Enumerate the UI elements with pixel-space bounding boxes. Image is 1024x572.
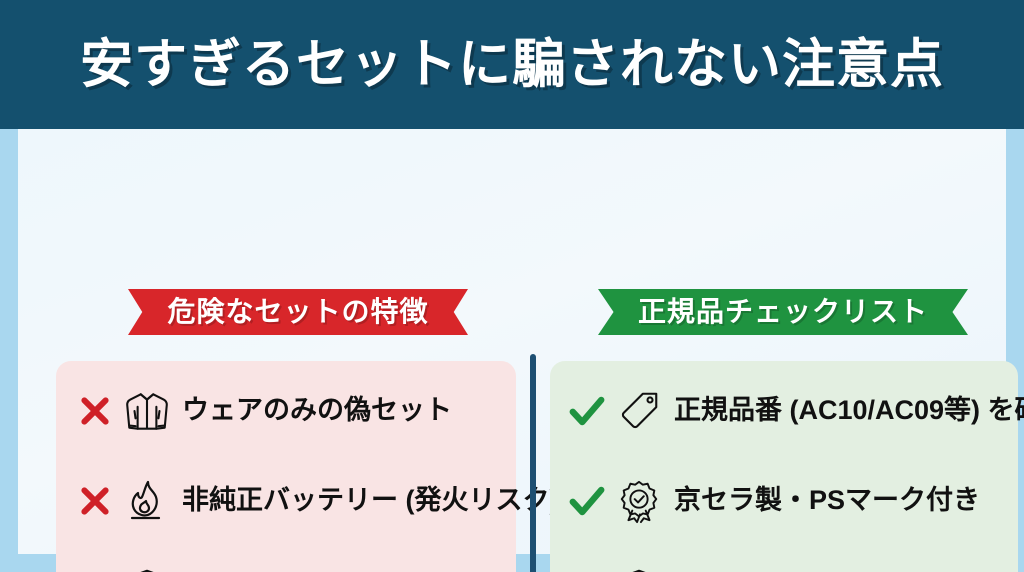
danger-card: ウェアのみの偽セット 非純正バッテリー (発火リスク) xyxy=(56,361,516,572)
safe-banner: 正規品チェックリスト xyxy=(598,289,968,335)
jacket-icon xyxy=(118,386,176,436)
list-item-label: ウェアのみの偽セット xyxy=(182,396,452,426)
danger-banner: 危険なセットの特徴 xyxy=(128,289,468,335)
price-tag-icon xyxy=(610,388,668,434)
list-item-label: 非純正バッテリー (発火リスク) xyxy=(182,486,558,516)
check-mark-icon xyxy=(564,482,610,520)
safe-banner-label: 正規品チェックリスト xyxy=(638,298,928,326)
danger-banner-label: 危険なセットの特徴 xyxy=(167,298,428,326)
flame-icon xyxy=(118,477,176,525)
list-item: 非純正バッテリー (発火リスク) xyxy=(56,465,516,537)
column-divider xyxy=(530,354,536,572)
shield-check-icon xyxy=(610,566,668,572)
check-mark-icon xyxy=(564,392,610,430)
page-title: 安すぎるセットに騙されない注意点 xyxy=(80,38,944,91)
safe-card: 正規品番 (AC10/AC09等) を確認 xyxy=(550,361,1018,572)
award-badge-icon xyxy=(610,478,668,524)
cross-mark-icon xyxy=(72,484,118,518)
cross-mark-icon xyxy=(72,394,118,428)
list-item: ウェアのみの偽セット xyxy=(56,375,516,447)
list-item: 京セラ製・PSマーク付き xyxy=(550,465,1018,537)
list-item: 正規品番 (AC10/AC09等) を確認 xyxy=(550,375,1018,447)
content-panel: 危険なセットの特徴 正規品チェックリスト xyxy=(18,129,1006,554)
header-bar: 安すぎるセットに騙されない注意点 xyxy=(0,0,1024,129)
broken-shield-icon xyxy=(118,566,176,572)
list-item-label: 京セラ製・PSマーク付き xyxy=(674,486,980,516)
list-item: 1年間のメーカー保証あり xyxy=(550,553,1018,572)
list-item-label: 正規品番 (AC10/AC09等) を確認 xyxy=(674,396,1024,426)
list-item: 保証なし・販売者情報不明 xyxy=(56,553,516,572)
infographic-root: 安すぎるセットに騙されない注意点 危険なセットの特徴 正規品チェックリスト xyxy=(0,0,1024,572)
